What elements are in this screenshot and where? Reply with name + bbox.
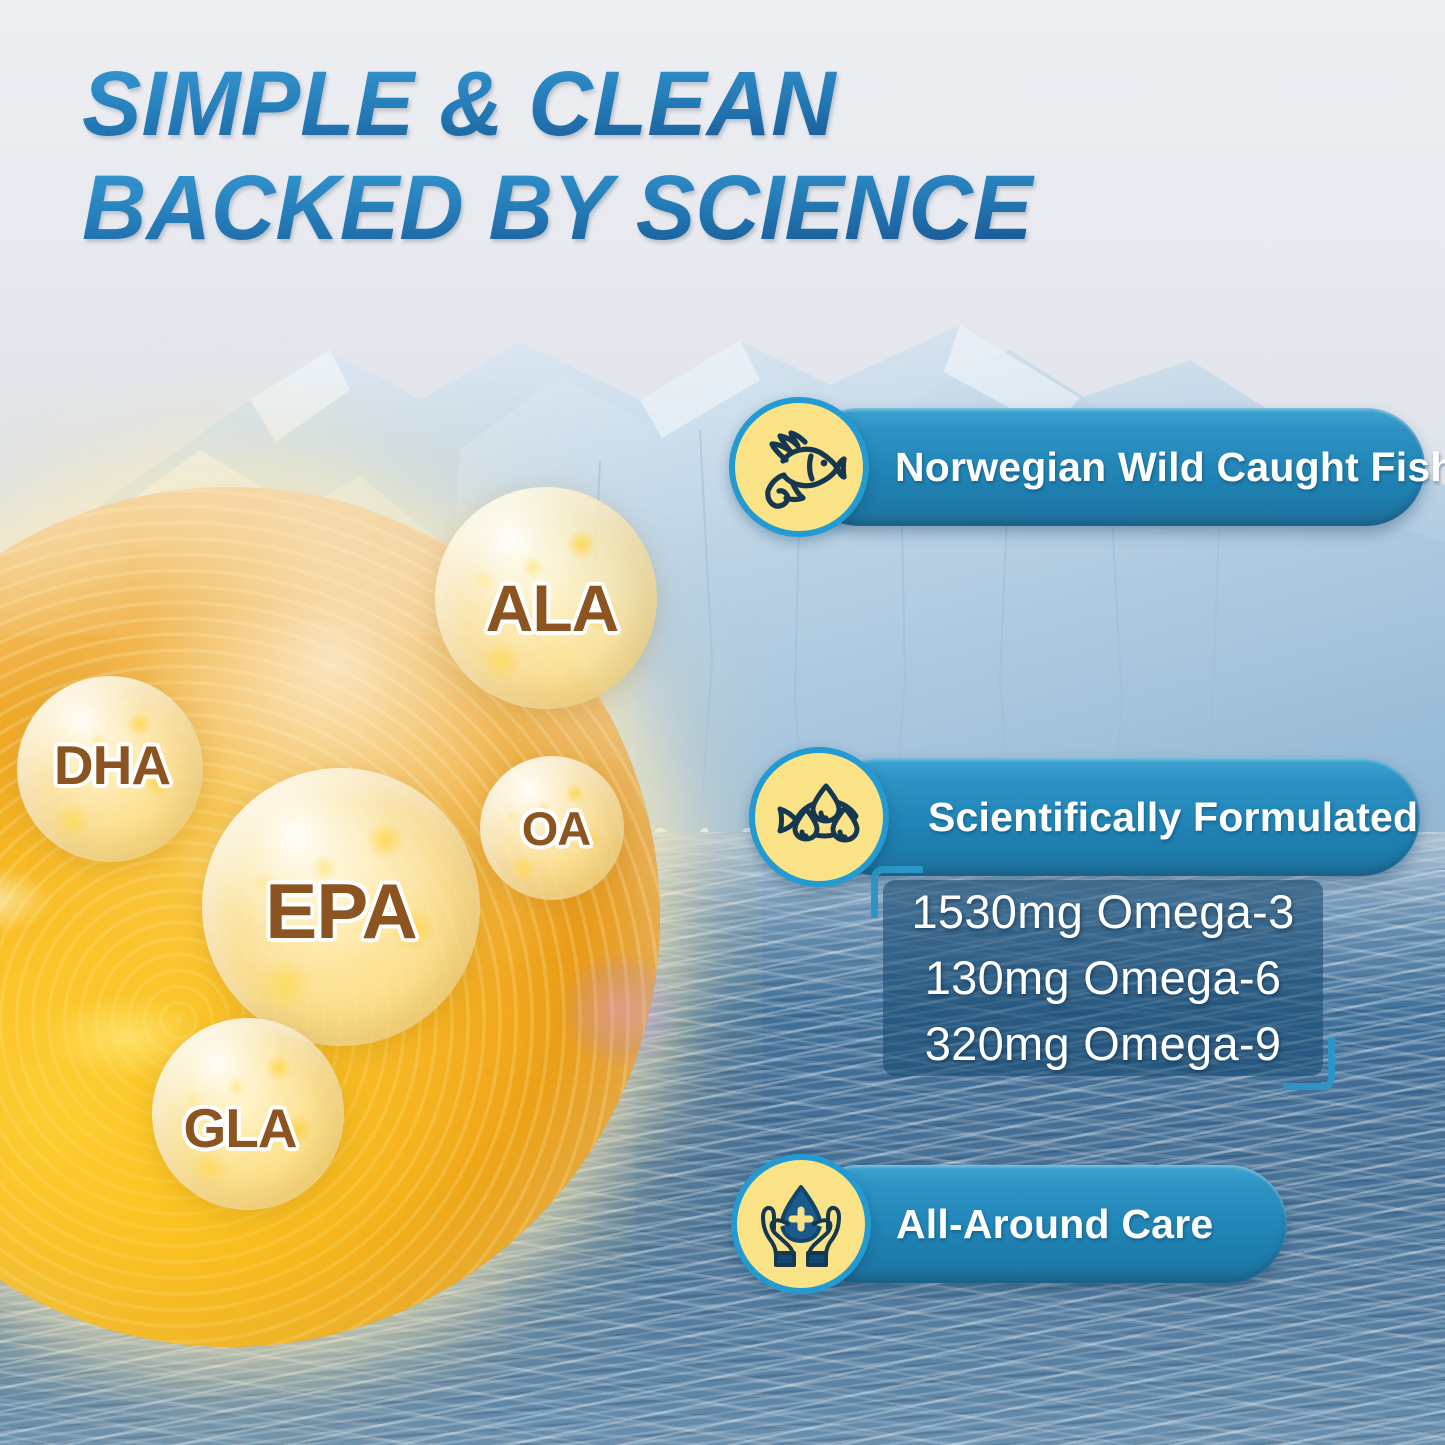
bubble-label-ala: ALA [486, 570, 619, 646]
fish-oil-drops-icon [749, 747, 889, 887]
fish-icon [729, 397, 869, 537]
omega-line-2: 130mg Omega-6 [925, 946, 1282, 1010]
badge-pill-1[interactable]: Norwegian Wild Caught Fish [800, 408, 1425, 526]
nutrient-bubble-epa: EPA [202, 768, 480, 1046]
bubble-label-dha: DHA [54, 733, 170, 797]
nutrient-bubble-dha: DHA [17, 676, 203, 862]
omega-line-1: 1530mg Omega-3 [911, 880, 1294, 944]
headline-line-1: SIMPLE & CLEAN [82, 52, 1227, 156]
badge-pill-3[interactable]: All-Around Care [800, 1165, 1287, 1283]
omega-line-3: 320mg Omega-9 [925, 1012, 1282, 1076]
lens-flare [560, 950, 680, 1070]
badge-pill-2[interactable]: Scientifically Formulated [820, 758, 1420, 876]
infographic-canvas: ALA DHA EPA OA GLA SIMPLE & CLEAN BACKED… [0, 0, 1445, 1445]
omega-content-panel: 1530mg Omega-3 130mg Omega-6 320mg Omega… [883, 880, 1323, 1076]
bubble-label-gla: GLA [183, 1096, 296, 1160]
hands-holding-drop-icon [731, 1154, 871, 1294]
bubble-label-epa: EPA [265, 866, 417, 957]
nutrient-bubble-oa: OA [480, 756, 624, 900]
nutrient-bubble-ala: ALA [435, 487, 657, 709]
nutrient-bubble-gla: GLA [152, 1018, 344, 1210]
badge-label-1: Norwegian Wild Caught Fish [895, 444, 1445, 491]
headline-line-2: BACKED BY SCIENCE [82, 156, 1227, 260]
bubble-label-oa: OA [522, 801, 591, 856]
badge-label-3: All-Around Care [896, 1201, 1213, 1248]
page-title: SIMPLE & CLEAN BACKED BY SCIENCE [82, 52, 1227, 260]
badge-label-2: Scientifically Formulated [928, 794, 1418, 841]
